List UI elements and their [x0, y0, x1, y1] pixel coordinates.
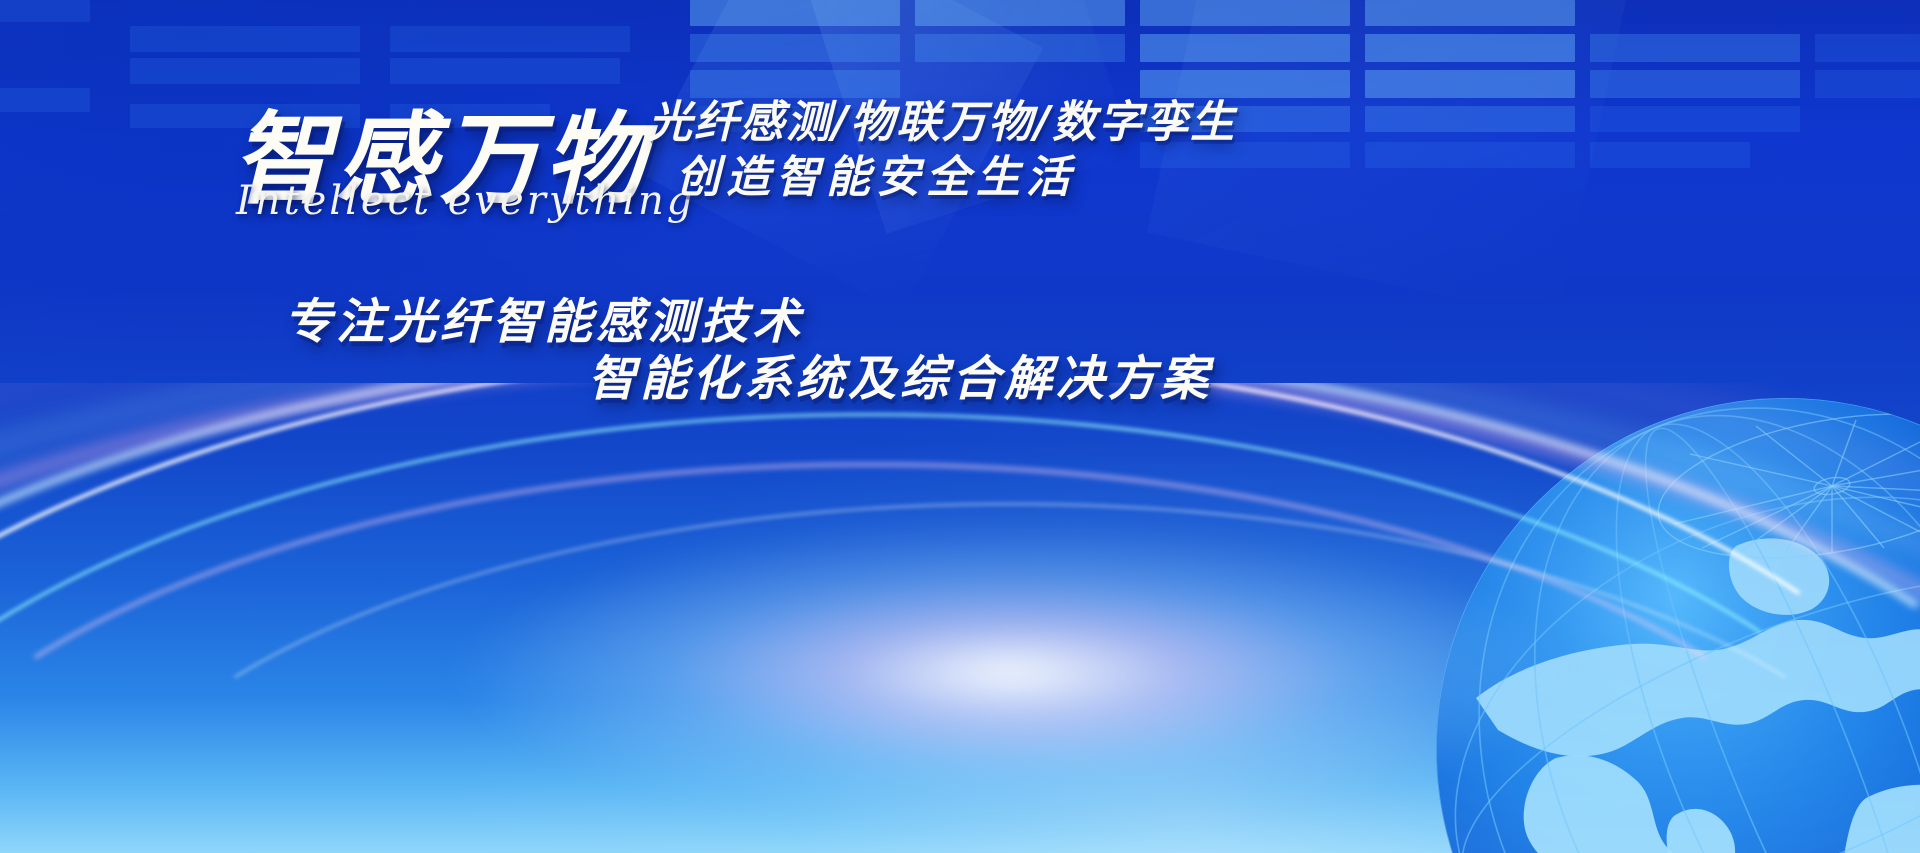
tagline-line-2: 创造智能安全生活 — [676, 141, 1076, 205]
grid-block — [915, 0, 1125, 26]
grid-block — [1590, 34, 1800, 62]
world-globe — [1436, 398, 1920, 853]
grid-block — [130, 26, 360, 52]
grid-block — [1590, 142, 1750, 168]
grid-block — [1365, 142, 1575, 168]
grid-block — [1590, 70, 1800, 98]
grid-block — [1140, 0, 1350, 26]
grid-block — [1365, 106, 1575, 132]
grid-block — [690, 34, 900, 62]
grid-block — [1590, 106, 1800, 132]
grid-block — [1140, 34, 1350, 62]
grid-block — [1365, 70, 1575, 98]
grid-block — [1365, 34, 1575, 62]
grid-block — [1815, 70, 1920, 98]
grid-block — [1365, 0, 1575, 26]
grid-block — [0, 88, 90, 112]
grid-block — [0, 0, 90, 22]
headline-english: Intellect everything — [236, 178, 695, 224]
grid-block — [390, 26, 630, 52]
lead-line-2: 智能化系统及综合解决方案 — [588, 339, 1212, 409]
grid-block — [690, 0, 900, 26]
streak-glow-core — [461, 523, 1561, 823]
grid-block — [1815, 34, 1920, 62]
grid-block — [915, 34, 1125, 62]
hero-banner: 智感万物 Intellect everything 光纤感测/物联万物/数字孪生… — [0, 0, 1920, 853]
